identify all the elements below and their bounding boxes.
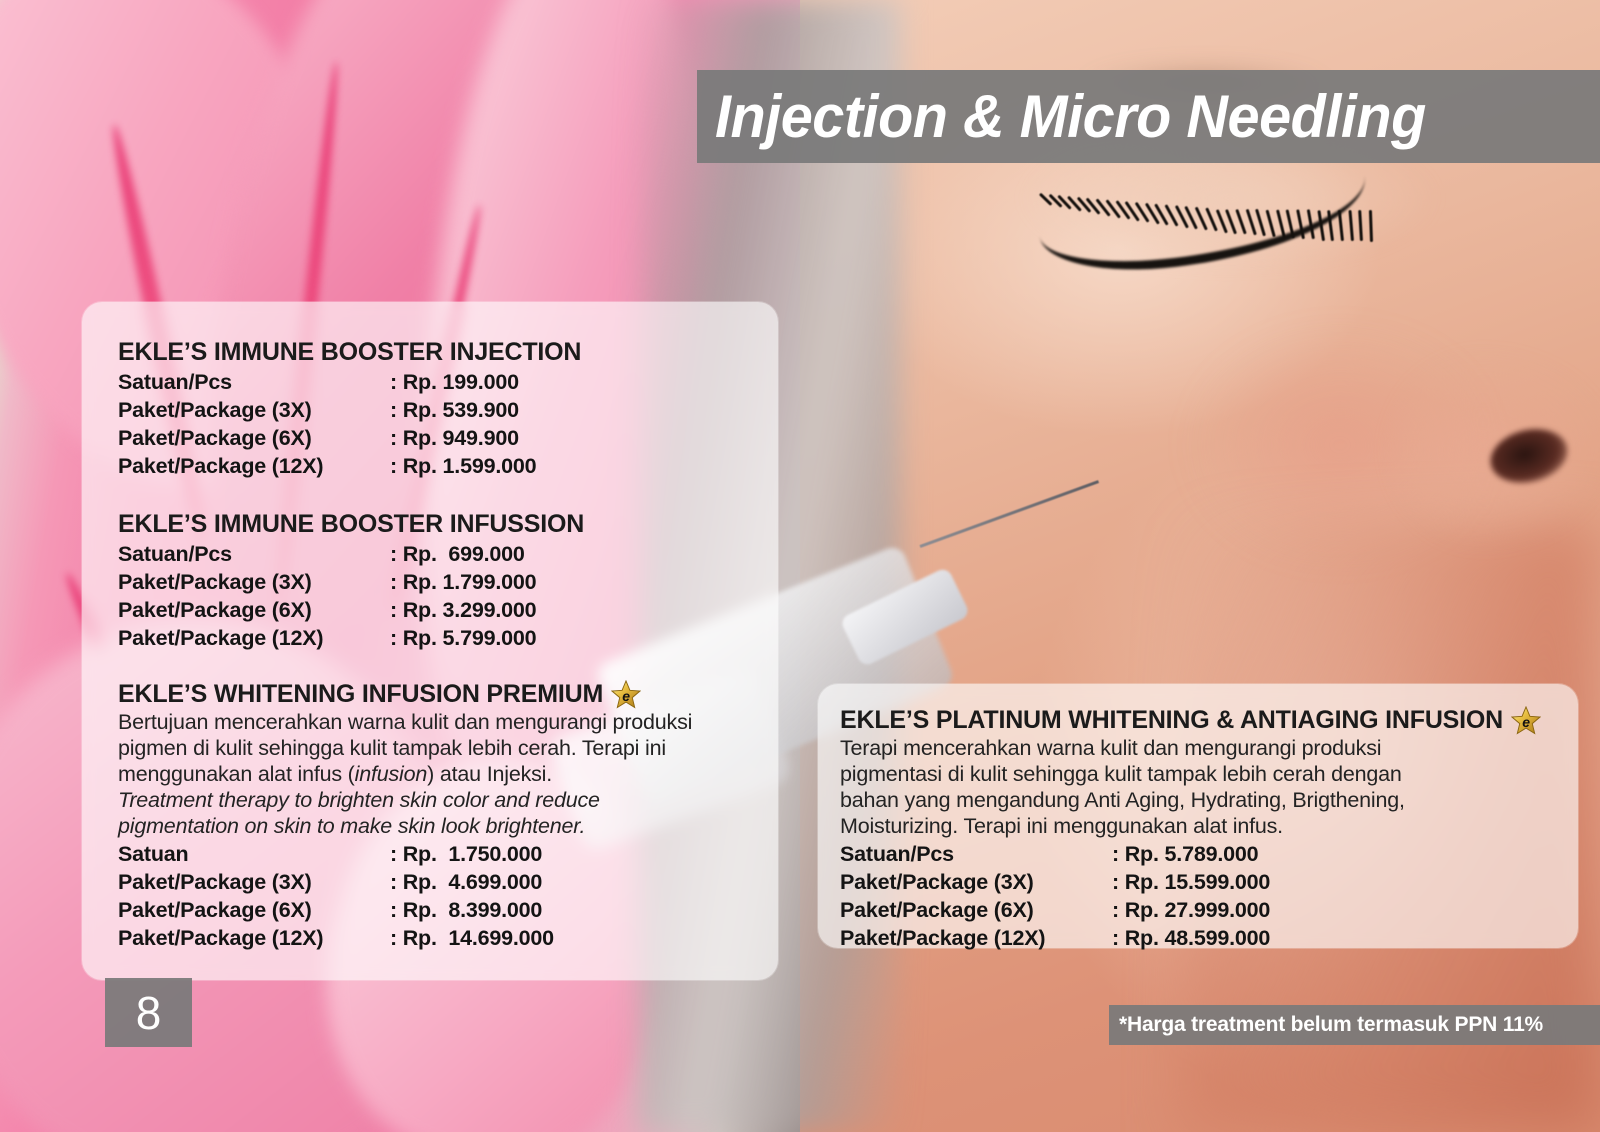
price-value: : Rp. 48.599.000 (1112, 924, 1270, 952)
price-row: Satuan/Pcs : Rp. 699.000 (118, 540, 584, 568)
section-immune-booster-infussion: EKLE’S IMMUNE BOOSTER INFUSSION Satuan/P… (118, 510, 584, 652)
price-value: : Rp. 539.900 (390, 396, 519, 424)
section-title: EKLE’S IMMUNE BOOSTER INJECTION (118, 338, 581, 367)
price-label: Paket/Package (12X) (118, 924, 390, 952)
price-value: : Rp. 1.750.000 (390, 840, 542, 868)
price-label: Satuan/Pcs (840, 840, 1112, 868)
desc-line: pigmen di kulit sehingga kulit tampak le… (118, 735, 692, 761)
price-value: : Rp. 15.599.000 (1112, 868, 1270, 896)
price-row: Paket/Package (12X) : Rp. 48.599.000 (840, 924, 1541, 952)
price-value: : Rp. 4.699.000 (390, 868, 542, 896)
price-row: Paket/Package (6X) : Rp. 8.399.000 (118, 896, 692, 924)
price-label: Satuan/Pcs (118, 368, 390, 396)
desc-line: Terapi mencerahkan warna kulit dan mengu… (840, 735, 1541, 761)
section-description-english: Treatment therapy to brighten skin color… (118, 787, 692, 839)
desc-line: Treatment therapy to brighten skin color… (118, 787, 692, 813)
page-number-badge: 8 (105, 978, 192, 1047)
price-row: Paket/Package (3X) : Rp. 15.599.000 (840, 868, 1541, 896)
gold-star-e-icon: e (1511, 706, 1541, 735)
section-whitening-infusion-premium: EKLE’S WHITENING INFUSION PREMIUM (118, 680, 692, 952)
brochure-page: Injection & Micro Needling EKLE’S IMMUNE… (0, 0, 1600, 1132)
gold-star-e-icon: e (611, 680, 641, 709)
section-title-text: EKLE’S WHITENING INFUSION PREMIUM (118, 680, 603, 709)
page-title-bar: Injection & Micro Needling (697, 70, 1600, 163)
price-label: Paket/Package (3X) (118, 396, 390, 424)
section-title: EKLE’S IMMUNE BOOSTER INFUSSION (118, 510, 584, 539)
price-value: : Rp. 699.000 (390, 540, 525, 568)
price-value: : Rp. 1.799.000 (390, 568, 536, 596)
desc-part: ) atau Injeksi. (427, 762, 552, 786)
price-rows: Satuan/Pcs : Rp. 699.000 Paket/Package (… (118, 540, 584, 652)
section-description: Bertujuan mencerahkan warna kulit dan me… (118, 709, 692, 787)
star-letter: e (1511, 706, 1541, 735)
price-row: Paket/Package (6X) : Rp. 3.299.000 (118, 596, 584, 624)
price-row: Satuan : Rp. 1.750.000 (118, 840, 692, 868)
price-label: Paket/Package (12X) (118, 624, 390, 652)
star-letter: e (611, 680, 641, 709)
desc-part-italic: infusion (355, 762, 428, 786)
price-label: Paket/Package (6X) (118, 424, 390, 452)
price-value: : Rp. 3.299.000 (390, 596, 536, 624)
price-value: : Rp. 14.699.000 (390, 924, 554, 952)
price-label: Paket/Package (3X) (840, 868, 1112, 896)
price-value: : Rp. 949.900 (390, 424, 519, 452)
tax-note-text: *Harga treatment belum termasuk PPN 11% (1119, 1013, 1543, 1037)
price-label: Paket/Package (6X) (840, 896, 1112, 924)
price-row: Paket/Package (3X) : Rp. 4.699.000 (118, 868, 692, 896)
price-rows: Satuan : Rp. 1.750.000 Paket/Package (3X… (118, 840, 692, 952)
price-value: : Rp. 1.599.000 (390, 452, 536, 480)
price-label: Paket/Package (12X) (840, 924, 1112, 952)
tax-note-bar: *Harga treatment belum termasuk PPN 11% (1109, 1005, 1600, 1045)
price-row: Paket/Package (12X) : Rp. 14.699.000 (118, 924, 692, 952)
section-title-text: EKLE’S PLATINUM WHITENING & ANTIAGING IN… (840, 706, 1503, 735)
price-row: Satuan/Pcs : Rp. 199.000 (118, 368, 581, 396)
price-label: Satuan (118, 840, 390, 868)
left-price-card: EKLE’S IMMUNE BOOSTER INJECTION Satuan/P… (82, 302, 778, 980)
section-description: Terapi mencerahkan warna kulit dan mengu… (840, 735, 1541, 839)
section-title: EKLE’S WHITENING INFUSION PREMIUM (118, 680, 692, 709)
desc-line: pigmentasi di kulit sehingga kulit tampa… (840, 761, 1541, 787)
desc-line: menggunakan alat infus (infusion) atau I… (118, 761, 692, 787)
price-label: Paket/Package (12X) (118, 452, 390, 480)
desc-line: Moisturizing. Terapi ini menggunakan ala… (840, 813, 1541, 839)
page-number: 8 (136, 986, 162, 1040)
price-value: : Rp. 199.000 (390, 368, 519, 396)
section-platinum-whitening-antiaging-infusion: EKLE’S PLATINUM WHITENING & ANTIAGING IN… (840, 706, 1541, 952)
desc-part: menggunakan alat infus ( (118, 762, 355, 786)
price-value: : Rp. 5.799.000 (390, 624, 536, 652)
price-label: Satuan/Pcs (118, 540, 390, 568)
desc-line: Bertujuan mencerahkan warna kulit dan me… (118, 709, 692, 735)
price-label: Paket/Package (3X) (118, 868, 390, 896)
section-immune-booster-injection: EKLE’S IMMUNE BOOSTER INJECTION Satuan/P… (118, 338, 581, 480)
price-row: Paket/Package (12X) : Rp. 5.799.000 (118, 624, 584, 652)
desc-line: pigmentation on skin to make skin look b… (118, 813, 692, 839)
price-value: : Rp. 27.999.000 (1112, 896, 1270, 924)
price-row: Paket/Package (6X) : Rp. 949.900 (118, 424, 581, 452)
desc-line: bahan yang mengandung Anti Aging, Hydrat… (840, 787, 1541, 813)
page-title: Injection & Micro Needling (715, 82, 1426, 151)
price-label: Paket/Package (6X) (118, 596, 390, 624)
price-rows: Satuan/Pcs : Rp. 5.789.000 Paket/Package… (840, 840, 1541, 952)
price-row: Paket/Package (3X) : Rp. 1.799.000 (118, 568, 584, 596)
price-row: Satuan/Pcs : Rp. 5.789.000 (840, 840, 1541, 868)
price-row: Paket/Package (3X) : Rp. 539.900 (118, 396, 581, 424)
price-value: : Rp. 5.789.000 (1112, 840, 1258, 868)
price-label: Paket/Package (3X) (118, 568, 390, 596)
right-price-card: EKLE’S PLATINUM WHITENING & ANTIAGING IN… (818, 684, 1578, 948)
price-row: Paket/Package (6X) : Rp. 27.999.000 (840, 896, 1541, 924)
price-label: Paket/Package (6X) (118, 896, 390, 924)
price-value: : Rp. 8.399.000 (390, 896, 542, 924)
price-row: Paket/Package (12X) : Rp. 1.599.000 (118, 452, 581, 480)
section-title: EKLE’S PLATINUM WHITENING & ANTIAGING IN… (840, 706, 1541, 735)
price-rows: Satuan/Pcs : Rp. 199.000 Paket/Package (… (118, 368, 581, 480)
